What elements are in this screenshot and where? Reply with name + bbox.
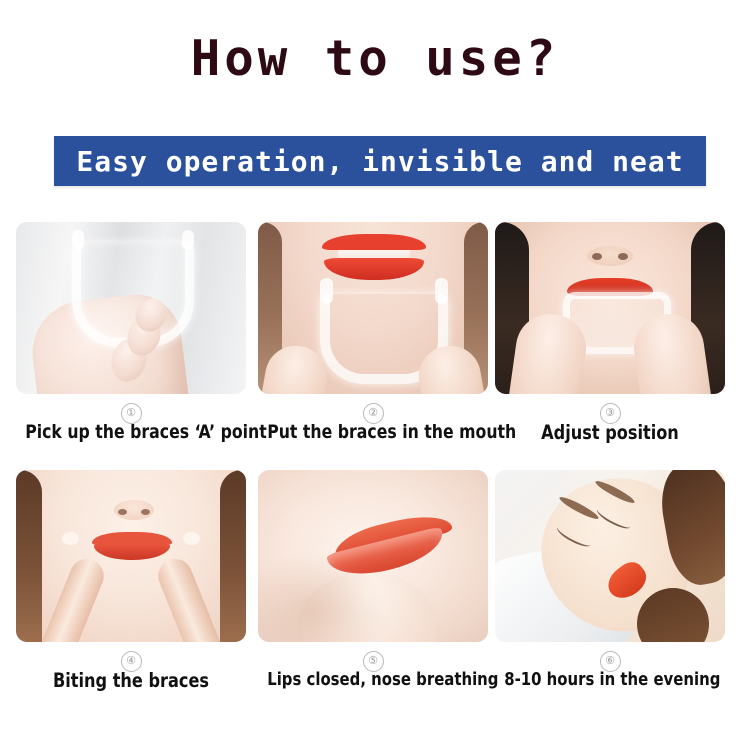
page-title: How to use? xyxy=(0,34,750,83)
closed-lips-image xyxy=(258,470,488,642)
step-photo-4 xyxy=(16,470,246,642)
step-caption-4: Biting the braces xyxy=(25,669,237,692)
step-caption-5: Lips closed, nose breathing xyxy=(267,669,479,690)
step-item-3: ③ Adjust position xyxy=(495,222,725,424)
step-photo-3 xyxy=(495,222,725,394)
subtitle-banner: Easy operation, invisible and neat xyxy=(54,136,706,186)
step-item-4: ④ Biting the braces xyxy=(16,470,246,672)
step-caption-2: Put the braces in the mouth xyxy=(267,421,479,443)
steps-row-2: ④ Biting the braces ⑤ Lips closed, nose … xyxy=(0,470,750,718)
fingers-on-cheeks-image xyxy=(16,470,246,642)
step-item-6: ⑥ 8-10 hours in the evening xyxy=(495,470,725,672)
hand-holding-brace-image xyxy=(16,222,246,394)
step-item-1: ① Pick up the braces ‘A’ point xyxy=(16,222,246,424)
steps-row-1: ① Pick up the braces ‘A’ point ② Pu xyxy=(0,222,750,470)
step-item-5: ⑤ Lips closed, nose breathing xyxy=(258,470,488,672)
subtitle-banner-text: Easy operation, invisible and neat xyxy=(76,145,683,178)
step-item-2: ② Put the braces in the mouth xyxy=(258,222,488,424)
step-caption-3: Adjust position xyxy=(504,421,716,444)
step-photo-5 xyxy=(258,470,488,642)
step-photo-1 xyxy=(16,222,246,394)
sleeping-woman-image xyxy=(495,470,725,642)
brace-near-mouth-image xyxy=(258,222,488,394)
adjusting-brace-image xyxy=(495,222,725,394)
steps-grid: ① Pick up the braces ‘A’ point ② Pu xyxy=(0,222,750,718)
step-caption-6: 8-10 hours in the evening xyxy=(504,669,716,690)
step-photo-6 xyxy=(495,470,725,642)
step-caption-1: Pick up the braces ‘A’ point xyxy=(25,421,237,443)
step-photo-2 xyxy=(258,222,488,394)
